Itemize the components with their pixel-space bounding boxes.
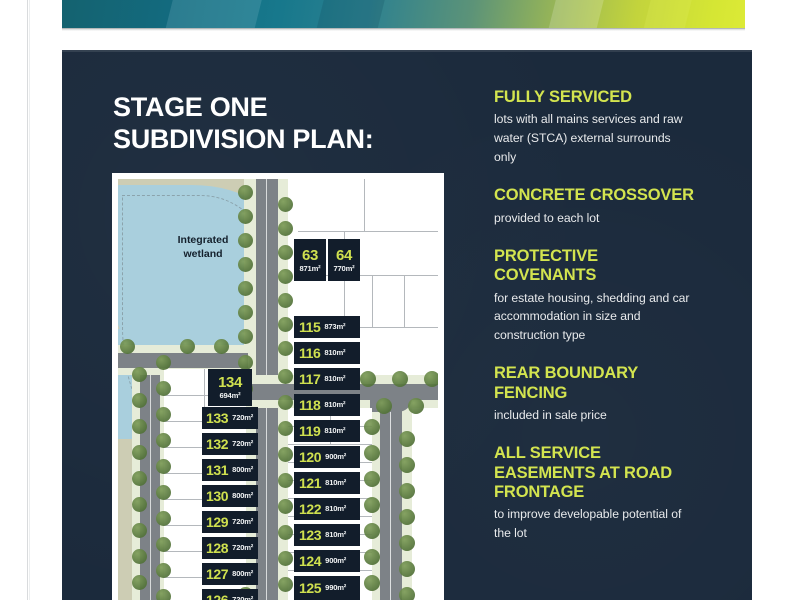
street-tree [132,471,147,486]
street-tree [238,329,253,344]
lot-area: 800m² [232,570,253,578]
street-tree [238,185,253,200]
lot-number: 128 [206,541,228,555]
lot-chip-133[interactable]: 133 720m² [202,407,258,429]
lot-area: 770m² [334,265,355,273]
lot-number: 127 [206,567,228,581]
lot-chip-132[interactable]: 132 720m² [202,433,258,455]
street-tree [278,269,293,284]
feature-title: ALL SERVICE EASEMENTS AT ROAD FRONTAGE [494,444,694,502]
lot-chip-134[interactable]: 134 694m² [208,369,252,406]
lot-number: 129 [206,515,228,529]
lot-number: 130 [206,489,228,503]
lot-area: 720m² [232,440,253,448]
lot-number: 123 [299,528,321,542]
feature-item-fully-serviced: FULLY SERVICED lots with all mains servi… [494,88,694,167]
street-tree [392,371,408,387]
lot-number: 115 [299,320,320,334]
lot-number: 64 [336,248,352,263]
lot-number: 131 [206,463,228,477]
east-road-centreline [390,405,391,600]
lot-number: 133 [206,411,228,425]
lot-area: 810m² [324,427,345,435]
lot-area: 810m² [325,531,346,539]
street-tree [238,233,253,248]
street-tree [156,485,171,500]
street-tree [364,445,380,461]
lot-area: 720m² [232,518,253,526]
street-tree [156,381,171,396]
west-connector-surface [118,353,248,368]
street-tree [156,563,171,578]
street-tree [156,407,171,422]
feature-body: for estate housing, shedding and car acc… [494,289,694,346]
street-tree [132,419,147,434]
page-title: STAGE ONE SUBDIVISION PLAN: [113,92,473,155]
street-tree [214,339,229,354]
lot-area: 810m² [325,505,346,513]
lot-chip-122[interactable]: 122 810m² [294,498,360,520]
lot-number: 116 [299,346,320,360]
lot-number: 117 [299,372,320,386]
feature-item-rear-boundary-fencing: REAR BOUNDARY FENCING included in sale p… [494,364,694,425]
feature-title: CONCRETE CROSSOVER [494,186,694,205]
street-tree [278,341,293,356]
lot-number: 120 [299,450,321,464]
banner-drop-shadow [62,28,745,31]
street-tree [278,447,293,462]
feature-list: FULLY SERVICED lots with all mains servi… [494,88,694,562]
lot-chip-130[interactable]: 130 800m² [202,485,258,507]
ne-lotline-v3 [372,275,373,327]
street-tree [278,395,293,410]
street-tree [360,371,376,387]
street-tree [278,197,293,212]
street-tree [399,561,415,577]
street-tree [156,355,171,370]
lot-chip-117[interactable]: 117 810m² [294,368,360,390]
page-left-edge [27,0,28,600]
street-tree [180,339,195,354]
subdivision-map[interactable]: Integrated wetland [112,173,444,600]
street-tree [278,551,293,566]
lot-chip-128[interactable]: 128 720m² [202,537,258,559]
lot-chip-63[interactable]: 63 871m² [294,239,326,281]
street-tree [278,499,293,514]
street-tree [399,587,415,600]
east-lotline-2 [288,444,372,445]
lot-area: 720m² [232,544,253,552]
feature-body: provided to each lot [494,209,694,228]
street-tree [376,398,392,414]
lot-chip-120[interactable]: 120 900m² [294,446,360,468]
lot-area: 810m² [324,401,345,409]
top-gradient-banner [62,0,745,28]
street-tree [408,398,424,414]
lot-chip-126[interactable]: 126 720m² [202,589,258,600]
banner-stripe-4 [644,0,695,28]
lot-chip-115[interactable]: 115 873m² [294,316,360,338]
street-tree [156,537,171,552]
lot-chip-124[interactable]: 124 900m² [294,550,360,572]
lot-area: 720m² [232,596,253,600]
street-tree [156,589,171,600]
street-tree [278,245,293,260]
street-tree [278,577,293,592]
street-tree [132,497,147,512]
lot-number: 121 [299,476,321,490]
lot-area: 720m² [232,414,253,422]
street-tree [156,433,171,448]
lot-number: 125 [299,581,321,595]
feature-title: FULLY SERVICED [494,88,694,107]
lot-number: 126 [206,593,228,600]
page-title-line-1: STAGE ONE [113,92,473,124]
street-tree [364,497,380,513]
banner-stripe-1 [166,0,265,28]
street-tree [399,457,415,473]
street-tree [399,431,415,447]
feature-title: REAR BOUNDARY FENCING [494,364,694,403]
lot-chip-121[interactable]: 121 810m² [294,472,360,494]
lot-area: 810m² [325,479,346,487]
street-tree [238,209,253,224]
street-tree [278,221,293,236]
lot-area: 871m² [300,265,321,273]
lot-area: 694m² [220,392,241,400]
street-tree [278,369,293,384]
page-title-line-2: SUBDIVISION PLAN: [113,124,473,156]
lot-area: 873m² [324,323,345,331]
street-tree [132,393,147,408]
street-tree [132,523,147,538]
street-tree [424,371,438,387]
lot-number: 124 [299,554,321,568]
street-tree [399,483,415,499]
street-tree [399,535,415,551]
street-tree [364,575,380,591]
street-tree [278,525,293,540]
street-tree [278,293,293,308]
lot-number: 119 [299,424,320,438]
feature-title: PROTECTIVE COVENANTS [494,247,694,286]
lot-area: 810m² [324,349,345,357]
lot-chip-131[interactable]: 131 800m² [202,459,258,481]
lot-number: 132 [206,437,228,451]
lot-chip-118[interactable]: 118 810m² [294,394,360,416]
street-tree [364,471,380,487]
feature-item-protective-covenants: PROTECTIVE COVENANTS for estate housing,… [494,247,694,346]
feature-body: to improve developable potential of the … [494,505,694,543]
feature-body: lots with all mains services and raw wat… [494,110,694,167]
street-tree [120,339,135,354]
west-road-centreline [150,359,151,600]
street-tree [278,317,293,332]
street-tree [132,445,147,460]
banner-stripe-3 [549,0,607,28]
page-left-edge-shadow [29,0,30,600]
street-tree [238,257,253,272]
lot-chip-123[interactable]: 123 810m² [294,524,360,546]
feature-item-all-service-easements: ALL SERVICE EASEMENTS AT ROAD FRONTAGE t… [494,444,694,543]
street-tree [238,305,253,320]
lot-chip-127[interactable]: 127 800m² [202,563,258,585]
lot-chip-129[interactable]: 129 720m² [202,511,258,533]
ne-lotline-v4 [404,275,405,327]
lot-number: 122 [299,502,321,516]
street-tree [156,511,171,526]
lot-chip-125[interactable]: 125 990m² [294,576,360,600]
street-tree [132,367,147,382]
street-tree [364,523,380,539]
ne-lotline-v1 [364,179,365,231]
street-tree [278,473,293,488]
lot-area: 900m² [325,453,346,461]
lot-area: 900m² [325,557,346,565]
lot-area: 810m² [324,375,345,383]
street-tree [399,509,415,525]
street-tree [238,281,253,296]
street-tree [238,355,253,370]
street-tree [364,419,380,435]
feature-item-concrete-crossover: CONCRETE CROSSOVER provided to each lot [494,186,694,227]
lot-chip-64[interactable]: 64 770m² [328,239,360,281]
lot-number: 118 [299,398,320,412]
lot-area: 990m² [325,584,346,592]
ne-lotline-h1 [298,231,438,232]
banner-stripe-2 [316,0,388,28]
lot-number: 63 [302,248,318,263]
street-tree [156,459,171,474]
street-tree [278,421,293,436]
panel-top-highlight [62,50,752,52]
lot-area: 800m² [232,492,253,500]
street-tree [132,575,147,590]
feature-body: included in sale price [494,406,694,425]
lot-area: 800m² [232,466,253,474]
street-tree [132,549,147,564]
lot-number: 134 [218,375,242,390]
map-canvas[interactable]: Integrated wetland [118,179,438,600]
street-tree [364,549,380,565]
lot-chip-119[interactable]: 119 810m² [294,420,360,442]
lot-chip-116[interactable]: 116 810m² [294,342,360,364]
